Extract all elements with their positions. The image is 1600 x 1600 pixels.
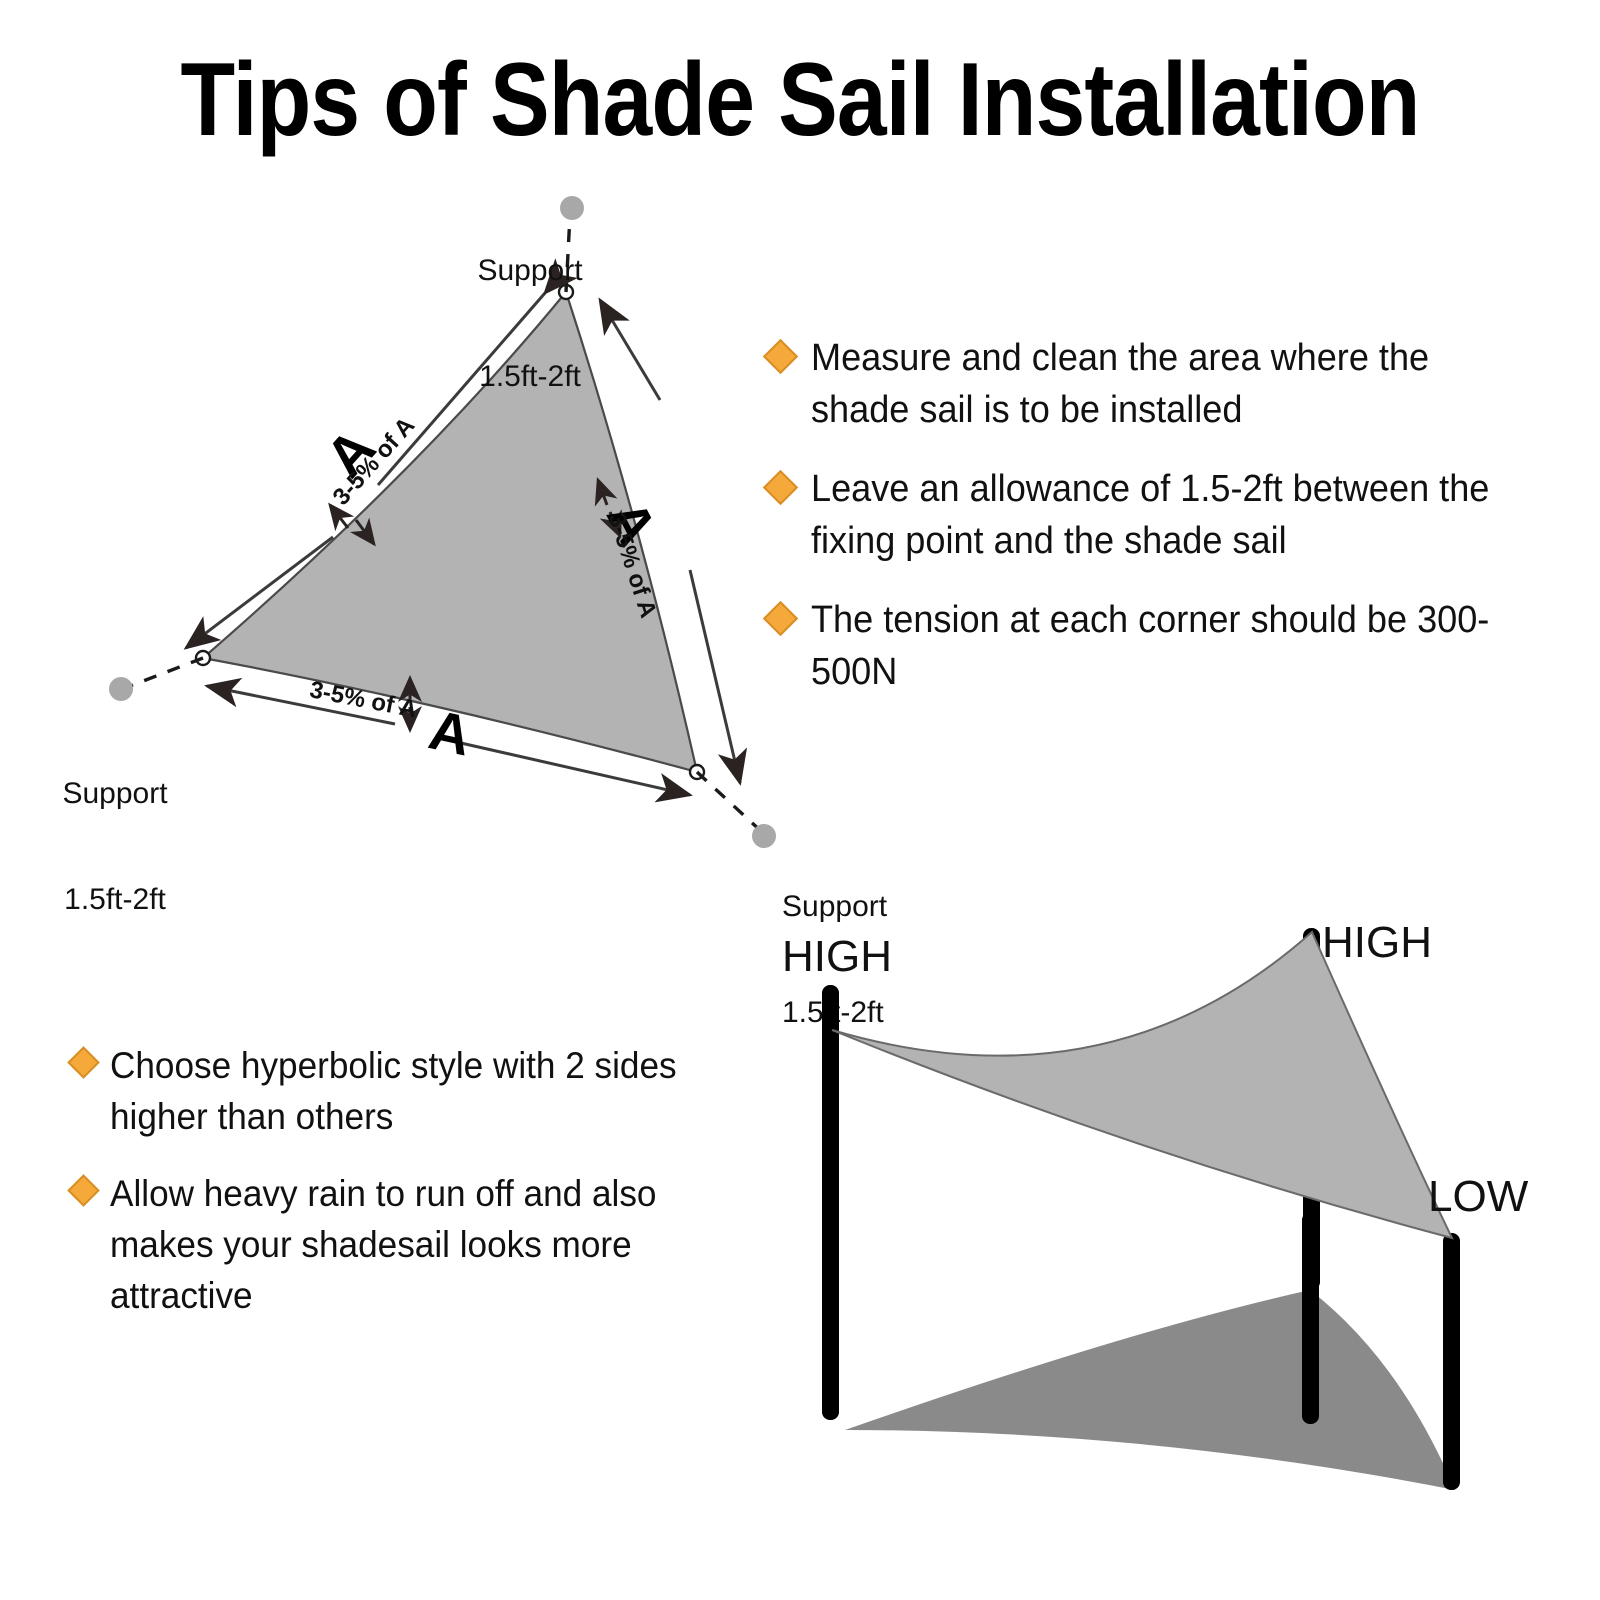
- tips-list-top: Measure and clean the area where the sha…: [768, 332, 1528, 725]
- grommet-left: [196, 651, 210, 665]
- offset-arrow-right: [598, 480, 607, 505]
- anchor-dash-bottom-right: [697, 772, 763, 833]
- support-anchor-left-icon: [109, 677, 133, 701]
- list-item: Leave an allowance of 1.5-2ft between th…: [768, 463, 1528, 568]
- triangle-shade-sail-diagram: [0, 0, 1600, 1600]
- grommet-bottom-right: [690, 765, 704, 779]
- list-item: Allow heavy rain to run off and also mak…: [72, 1168, 792, 1321]
- post-label-low: LOW: [1428, 1172, 1528, 1222]
- offset-arrow-left-2: [356, 520, 374, 544]
- post-label-right-high: HIGH: [1322, 918, 1432, 968]
- support-label-top: Support 1.5ft-2ft: [440, 182, 620, 465]
- post-low: [1443, 1233, 1460, 1490]
- anchor-dash-left: [125, 658, 203, 688]
- curvature-label-bottom: 3-5% of A: [307, 676, 419, 724]
- tip-text: Choose hyperbolic style with 2 sides hig…: [110, 1040, 758, 1142]
- post-middle: [1302, 1212, 1319, 1424]
- hyperbolic-shade-sail-diagram: [0, 0, 1600, 1600]
- support-label-left: Support 1.5ft-2ft: [20, 705, 210, 988]
- diamond-bullet-icon: [763, 601, 798, 636]
- tips-list-bottom: Choose hyperbolic style with 2 sides hig…: [72, 1040, 792, 1347]
- dimension-arrow-bottom-edge-2: [452, 741, 690, 795]
- tip-text: The tension at each corner should be 300…: [811, 594, 1492, 699]
- support-anchor-bottom-right-icon: [752, 824, 776, 848]
- page-title: Tips of Shade Sail Installation: [112, 48, 1488, 152]
- diamond-bullet-icon: [67, 1046, 100, 1079]
- post-label-left-high: HIGH: [782, 932, 892, 982]
- diamond-bullet-icon: [67, 1174, 100, 1207]
- infographic-page: Tips of Shade Sail Installation: [0, 0, 1600, 1600]
- ground-shadow-shape: [845, 1290, 1455, 1490]
- list-item: Measure and clean the area where the sha…: [768, 332, 1528, 437]
- diamond-bullet-icon: [763, 470, 798, 505]
- tip-text: Leave an allowance of 1.5-2ft between th…: [811, 463, 1492, 568]
- dimension-arrow-right-edge-2: [690, 570, 740, 783]
- post-right-high: [1303, 928, 1320, 1290]
- tip-text: Measure and clean the area where the sha…: [811, 332, 1492, 437]
- tip-text: Allow heavy rain to run off and also mak…: [110, 1168, 758, 1321]
- list-item: The tension at each corner should be 300…: [768, 594, 1528, 699]
- edge-letter-bottom: A: [424, 697, 477, 769]
- diamond-bullet-icon: [763, 339, 798, 374]
- list-item: Choose hyperbolic style with 2 sides hig…: [72, 1040, 792, 1142]
- dimension-arrow-left-edge-2: [186, 537, 333, 648]
